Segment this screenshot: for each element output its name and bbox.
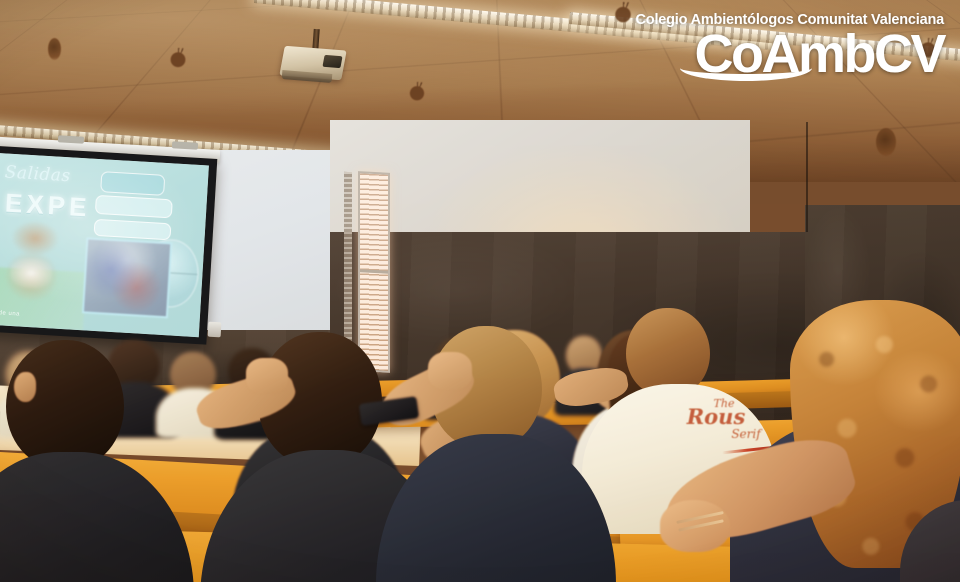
tshirt-graphic: Serif bbox=[706, 428, 786, 441]
logo-wordmark: CoAmbCV bbox=[636, 26, 944, 83]
ceiling-hole bbox=[48, 38, 61, 60]
person-head bbox=[626, 308, 710, 396]
tshirt-text-line3: Serif bbox=[731, 427, 760, 441]
slide-photo-thumbnail bbox=[82, 237, 172, 318]
screen-mount-bracket bbox=[172, 141, 198, 150]
person-hand bbox=[428, 352, 472, 390]
person-ear bbox=[14, 372, 36, 402]
coambcv-logo: Colegio Ambientólogos Comunitat Valencia… bbox=[636, 12, 944, 83]
tshirt-graphic: Rous bbox=[668, 406, 764, 428]
ceiling-hole bbox=[876, 128, 896, 156]
screen-mount-bracket bbox=[58, 135, 84, 144]
projection-screen-surface: Salidas EXPE de una bbox=[0, 153, 209, 337]
person-head bbox=[6, 340, 124, 468]
slide-caption: de una bbox=[0, 311, 20, 318]
wall-seam bbox=[806, 122, 808, 232]
ceiling-vent-icon bbox=[392, 82, 442, 107]
tshirt-text-line2: Rous bbox=[687, 404, 746, 429]
logo-wordmark-text: CoAmbCV bbox=[695, 24, 945, 84]
person-hand bbox=[246, 358, 288, 394]
projection-screen: Salidas EXPE de una bbox=[0, 145, 217, 344]
photo-canvas: Salidas EXPE de una bbox=[0, 0, 960, 582]
window bbox=[358, 171, 390, 373]
slide-mascot-illustration bbox=[0, 218, 77, 312]
wall-socket bbox=[208, 322, 222, 338]
ceiling-vent-icon bbox=[152, 48, 204, 74]
slide-subtitle: EXPE bbox=[4, 188, 91, 224]
